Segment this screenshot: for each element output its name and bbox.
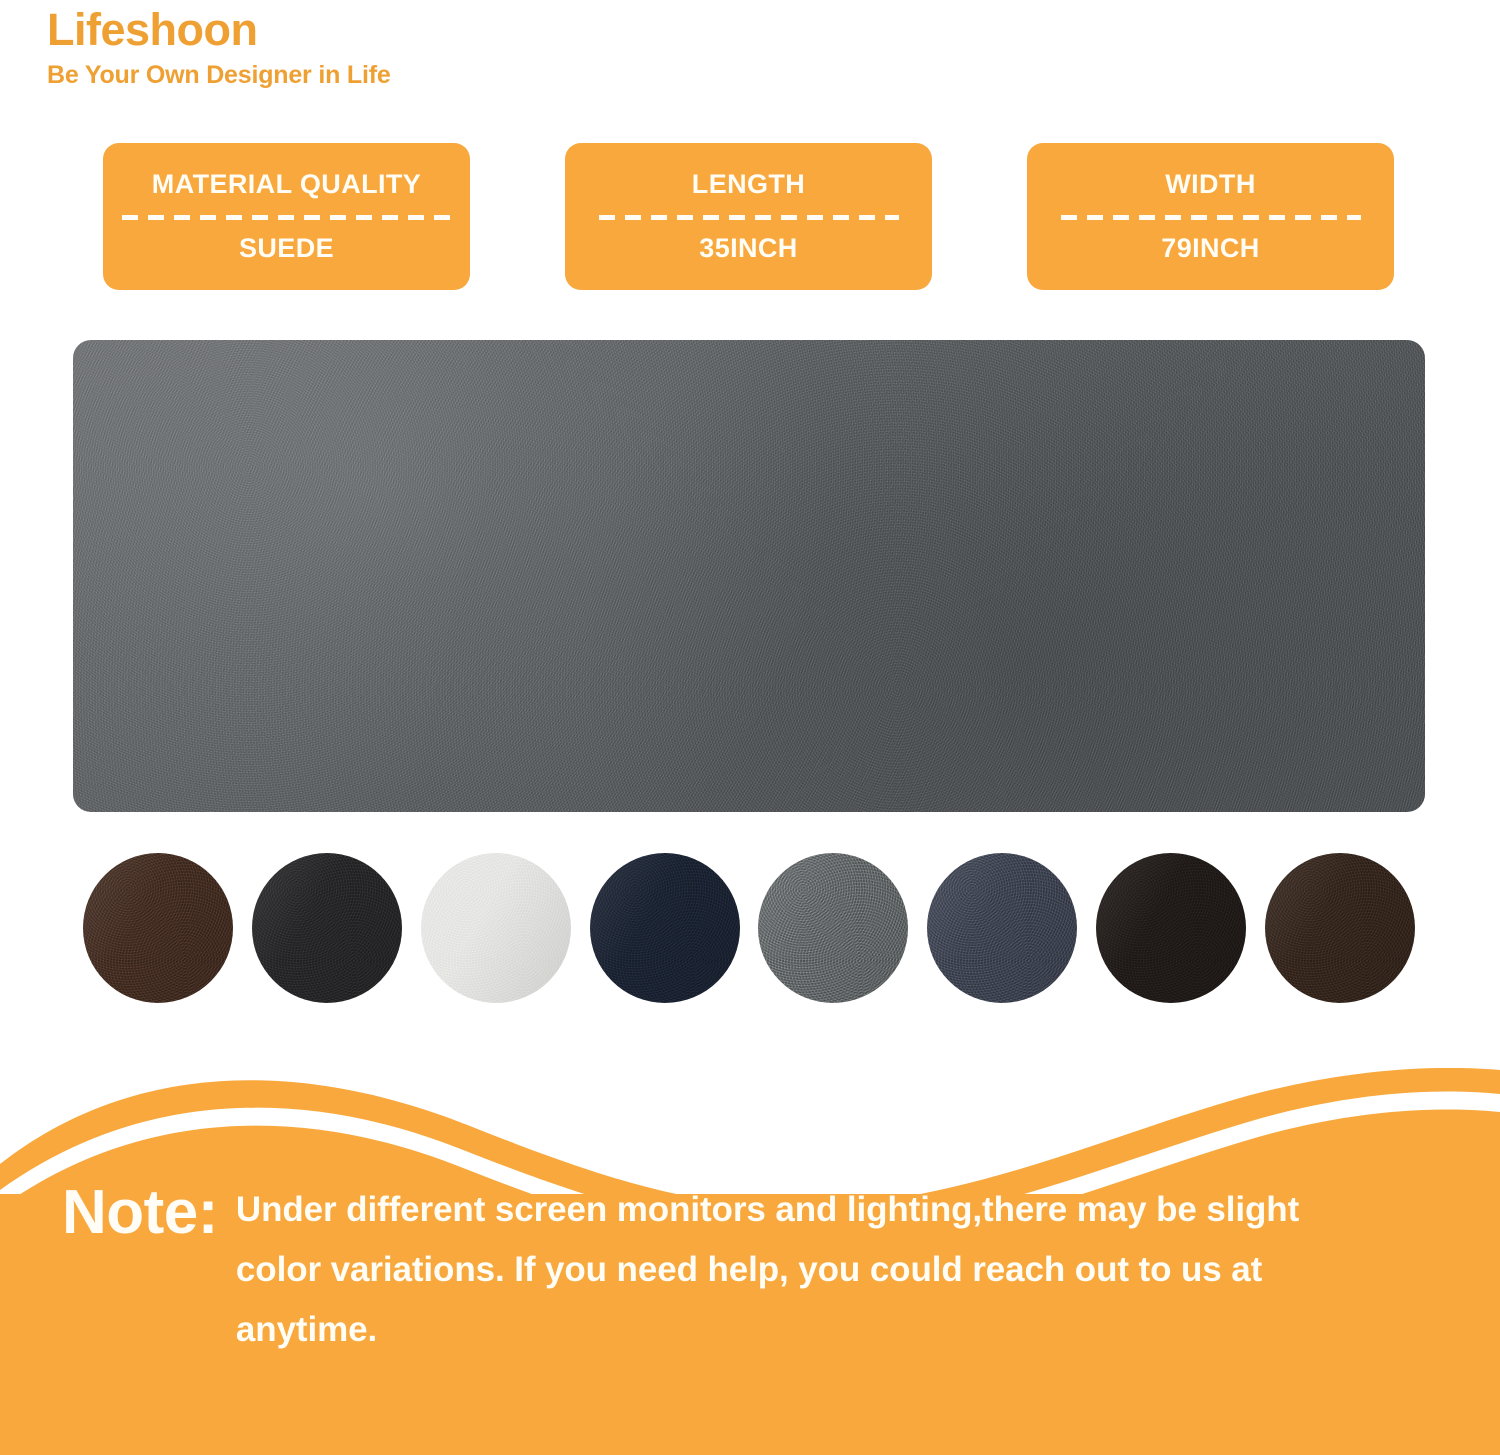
spec-value: SUEDE xyxy=(239,234,334,264)
swatch-texture xyxy=(421,853,571,1003)
swatch-texture xyxy=(1265,853,1415,1003)
color-swatch-navy-blue[interactable] xyxy=(590,853,740,1003)
spec-card-length: LENGTH 35INCH xyxy=(565,143,932,290)
note-block: Note: Under different screen monitors an… xyxy=(0,1068,1500,1455)
spec-value: 35INCH xyxy=(699,234,797,264)
color-swatch-row xyxy=(83,853,1415,1003)
spec-label: WIDTH xyxy=(1165,170,1255,200)
color-swatch-near-black-brown[interactable] xyxy=(1096,853,1246,1003)
swatch-shade xyxy=(590,853,740,1003)
note-text: Under different screen monitors and ligh… xyxy=(236,1180,1356,1361)
spec-card-width: WIDTH 79INCH xyxy=(1027,143,1394,290)
swatch-texture xyxy=(758,853,908,1003)
dashed-divider xyxy=(1061,215,1361,220)
swatch-shade xyxy=(1096,853,1246,1003)
swatch-texture xyxy=(252,853,402,1003)
spec-value: 79INCH xyxy=(1161,234,1259,264)
swatch-shade xyxy=(758,853,908,1003)
swatch-shade xyxy=(1265,853,1415,1003)
color-swatch-espresso-brown[interactable] xyxy=(1265,853,1415,1003)
note-heading: Note: xyxy=(62,1182,218,1244)
swatch-shade xyxy=(927,853,1077,1003)
color-swatch-charcoal-black[interactable] xyxy=(252,853,402,1003)
swatch-texture xyxy=(590,853,740,1003)
brand-header: Lifeshoon Be Your Own Designer in Life xyxy=(47,6,947,89)
spec-label: MATERIAL QUALITY xyxy=(152,170,421,200)
spec-label: LENGTH xyxy=(692,170,805,200)
spec-card-row: MATERIAL QUALITY SUEDE LENGTH 35INCH WID… xyxy=(103,143,1394,290)
product-infographic-page: Lifeshoon Be Your Own Designer in Life M… xyxy=(0,0,1500,1455)
color-swatch-dark-brown[interactable] xyxy=(83,853,233,1003)
color-swatch-slate-blue-gray[interactable] xyxy=(927,853,1077,1003)
swatch-texture xyxy=(927,853,1077,1003)
dashed-divider xyxy=(599,215,899,220)
color-swatch-cream-white[interactable] xyxy=(421,853,571,1003)
swatch-texture xyxy=(83,853,233,1003)
brand-name: Lifeshoon xyxy=(47,6,947,55)
dashed-divider xyxy=(122,215,452,220)
swatch-shade xyxy=(252,853,402,1003)
spec-card-material-quality: MATERIAL QUALITY SUEDE xyxy=(103,143,470,290)
swatch-shade xyxy=(421,853,571,1003)
note-content: Note: Under different screen monitors an… xyxy=(0,1180,1500,1361)
product-rug-image xyxy=(73,340,1425,812)
brand-tagline: Be Your Own Designer in Life xyxy=(47,61,947,90)
swatch-texture xyxy=(1096,853,1246,1003)
color-swatch-medium-gray[interactable] xyxy=(758,853,908,1003)
rug-sheen-overlay xyxy=(73,340,1425,812)
swatch-shade xyxy=(83,853,233,1003)
